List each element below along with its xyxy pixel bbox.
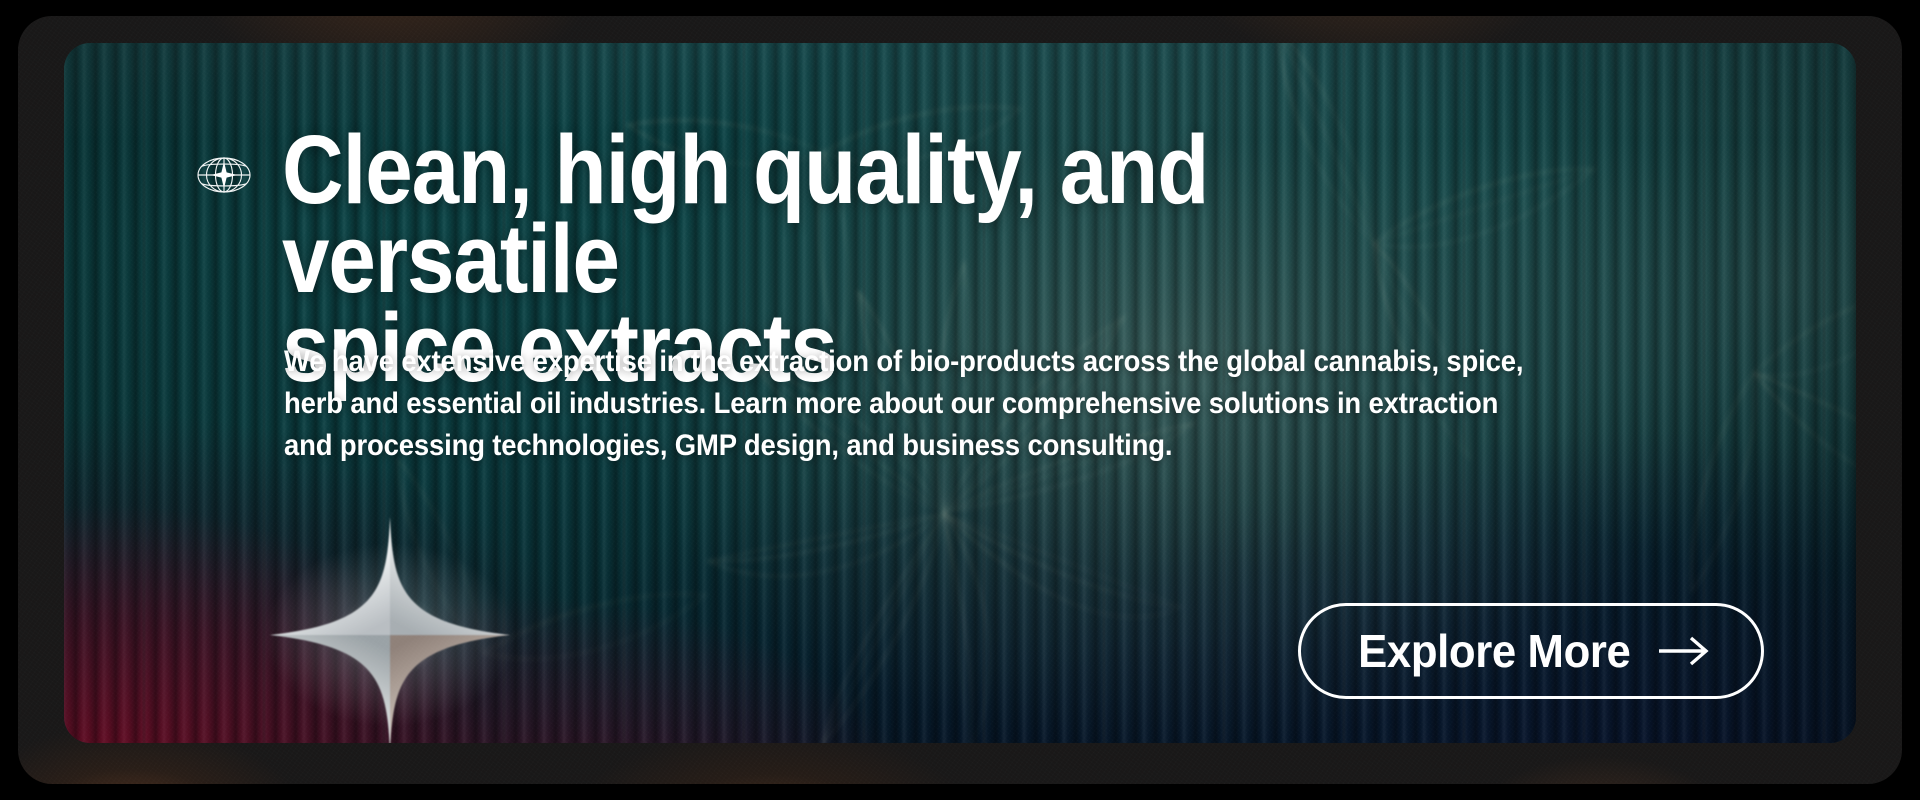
hero-description: We have extensive expertise in the extra… [284, 341, 1549, 467]
banner-frame: Clean, high quality, and versatile spice… [18, 16, 1902, 784]
arrow-right-icon [1657, 634, 1711, 668]
explore-more-button[interactable]: Explore More [1298, 603, 1764, 699]
explore-more-label: Explore More [1358, 624, 1630, 678]
globe-star-icon [196, 153, 252, 197]
hero-card: Clean, high quality, and versatile spice… [64, 43, 1856, 743]
four-point-star-sparkle [260, 505, 520, 743]
